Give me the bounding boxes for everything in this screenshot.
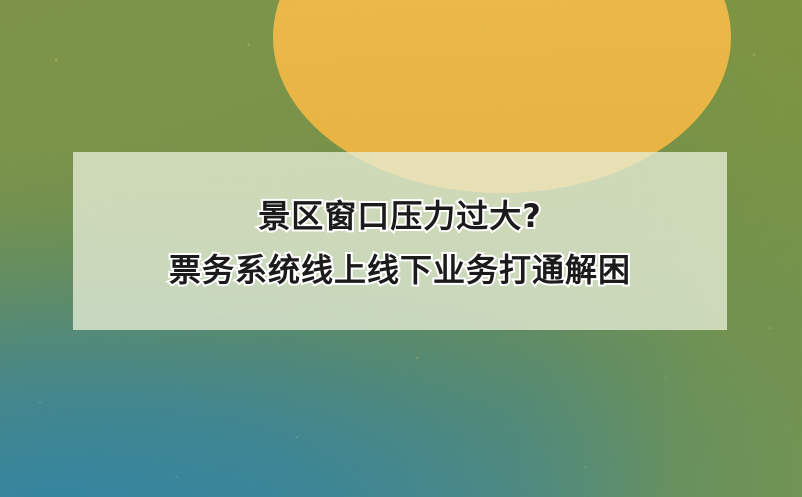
poster-image: 景区窗口压力过大? 票务系统线上线下业务打通解困 [0,0,802,497]
caption-line-primary: 景区窗口压力过大? [258,200,542,232]
caption-line-secondary: 票务系统线上线下业务打通解困 [169,254,631,286]
caption-panel: 景区窗口压力过大? 票务系统线上线下业务打通解困 [73,152,727,330]
